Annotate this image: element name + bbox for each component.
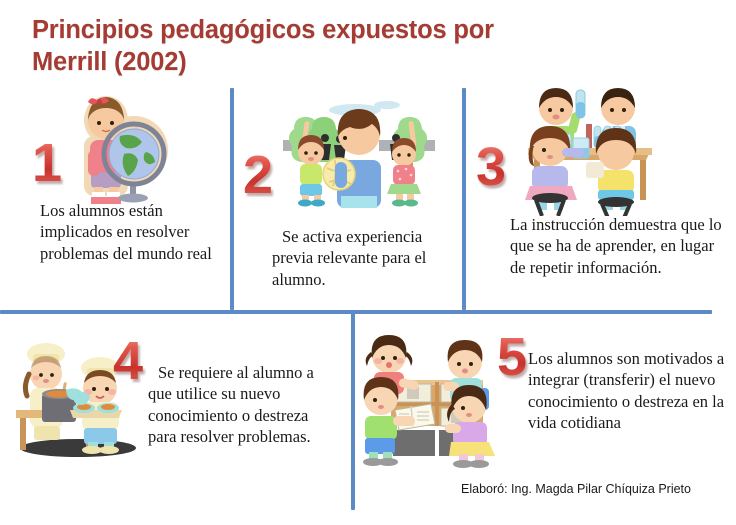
principle-number-2: 2 (243, 148, 273, 202)
principle-text-3: La instrucción demuestra que lo que se h… (510, 214, 728, 278)
girl-with-globe-clipart (72, 92, 172, 208)
page-title: Principios pedagógicos expuestos por Mer… (32, 14, 552, 79)
author-credit: Elaboró: Ing. Magda Pilar Chíquiza Priet… (461, 482, 691, 496)
children-reading-books-at-desks-clipart (361, 334, 519, 476)
principle-number-3: 3 (476, 140, 506, 194)
infographic-canvas: Principios pedagógicos expuestos por Mer… (0, 0, 736, 525)
principle-text-1: Los alumnos están implicados en resolver… (40, 200, 215, 264)
principle-text-2: Se activa experiencia previa relevante p… (272, 226, 450, 290)
principle-number-5: 5 (497, 330, 527, 384)
principle-cell-3: 3 La instrucción demuestra que lo que se… (462, 88, 736, 310)
principle-cell-1: 1 Los alumnos están implicados en resolv… (0, 88, 230, 310)
children-playing-ball-outdoors-clipart (283, 96, 435, 208)
principle-cell-2: 2 Se activa experiencia previa relevante… (230, 88, 462, 310)
principle-number-1: 1 (32, 136, 62, 190)
principle-text-4: Se requiere al alumno a que utilice su n… (148, 362, 338, 448)
principle-number-4: 4 (113, 334, 143, 388)
principle-text-5: Los alumnos son motivados a integrar (tr… (528, 348, 728, 434)
principle-cell-5: 5 Los alumnos son motivados a integrar (… (351, 314, 736, 525)
children-science-experiment-clipart (520, 86, 660, 216)
principle-cell-4: 4 Se requiere al alumno a que utilice su… (0, 314, 351, 525)
